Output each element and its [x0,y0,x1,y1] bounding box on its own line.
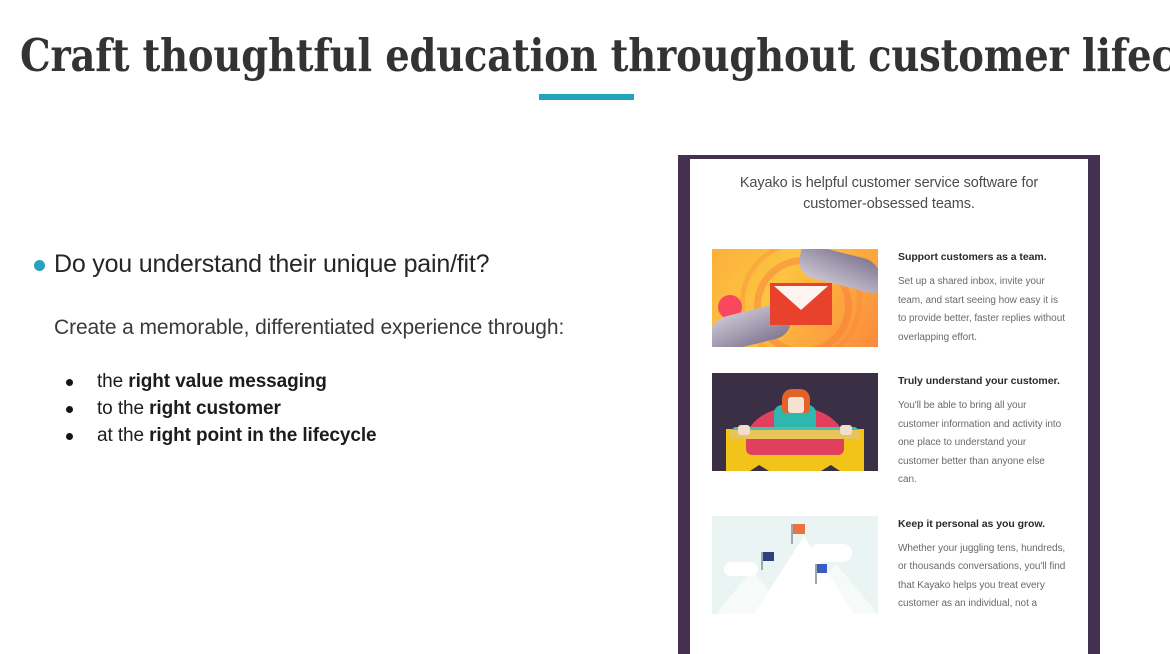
feature-card-text: You'll be able to bring all your custome… [898,397,1066,490]
sub-lead-text: Create a memorable, differentiated exper… [54,314,654,342]
bullet-prefix: at the [97,425,149,446]
website-screenshot-panel: Kayako is helpful customer service softw… [678,155,1100,654]
bullet-prefix: to the [97,398,149,419]
title-accent-rule [539,94,634,100]
list-item: at the right point in the lifecycle [34,422,654,449]
feature-card-title: Truly understand your customer. [898,374,1066,388]
feature-card-body: Keep it personal as you grow. Whether yo… [898,516,1066,614]
teal-bullet-icon [34,260,45,271]
feature-card-title: Support customers as a team. [898,250,1066,264]
sub-bullet-list: the right value messaging to the right c… [34,368,654,449]
feature-card-body: Truly understand your customer. You'll b… [898,373,1066,490]
website-headline: Kayako is helpful customer service softw… [712,173,1066,215]
hands-envelope-icon [712,249,878,347]
bullet-dot-icon [66,406,73,413]
body-content: Do you understand their unique pain/fit?… [34,248,654,449]
feature-card-body: Support customers as a team. Set up a sh… [898,249,1066,347]
woman-measuring-tape-icon [712,373,878,471]
feature-card: Truly understand your customer. You'll b… [712,373,1066,490]
feature-card-text: Whether your juggling tens, hundreds, or… [898,540,1066,614]
bullet-strong: right customer [149,398,281,419]
lead-bullet-row: Do you understand their unique pain/fit? [34,248,654,280]
bullet-strong: right point in the lifecycle [149,425,376,446]
list-item: to the right customer [34,395,654,422]
feature-card-text: Set up a shared inbox, invite your team,… [898,273,1066,347]
list-item: the right value messaging [34,368,654,395]
feature-card-title: Keep it personal as you grow. [898,517,1066,531]
feature-card: Support customers as a team. Set up a sh… [712,249,1066,347]
website-screenshot-content: Kayako is helpful customer service softw… [690,159,1088,654]
bullet-prefix: the [97,371,128,392]
page-title: Craft thoughtful education throughout cu… [20,30,990,82]
feature-card-list: Support customers as a team. Set up a sh… [712,249,1066,614]
bullet-strong: right value messaging [128,371,327,392]
mountain-flags-icon [712,516,878,614]
bullet-dot-icon [66,379,73,386]
lead-question: Do you understand their unique pain/fit? [54,248,489,280]
feature-card: Keep it personal as you grow. Whether yo… [712,516,1066,614]
bullet-dot-icon [66,433,73,440]
